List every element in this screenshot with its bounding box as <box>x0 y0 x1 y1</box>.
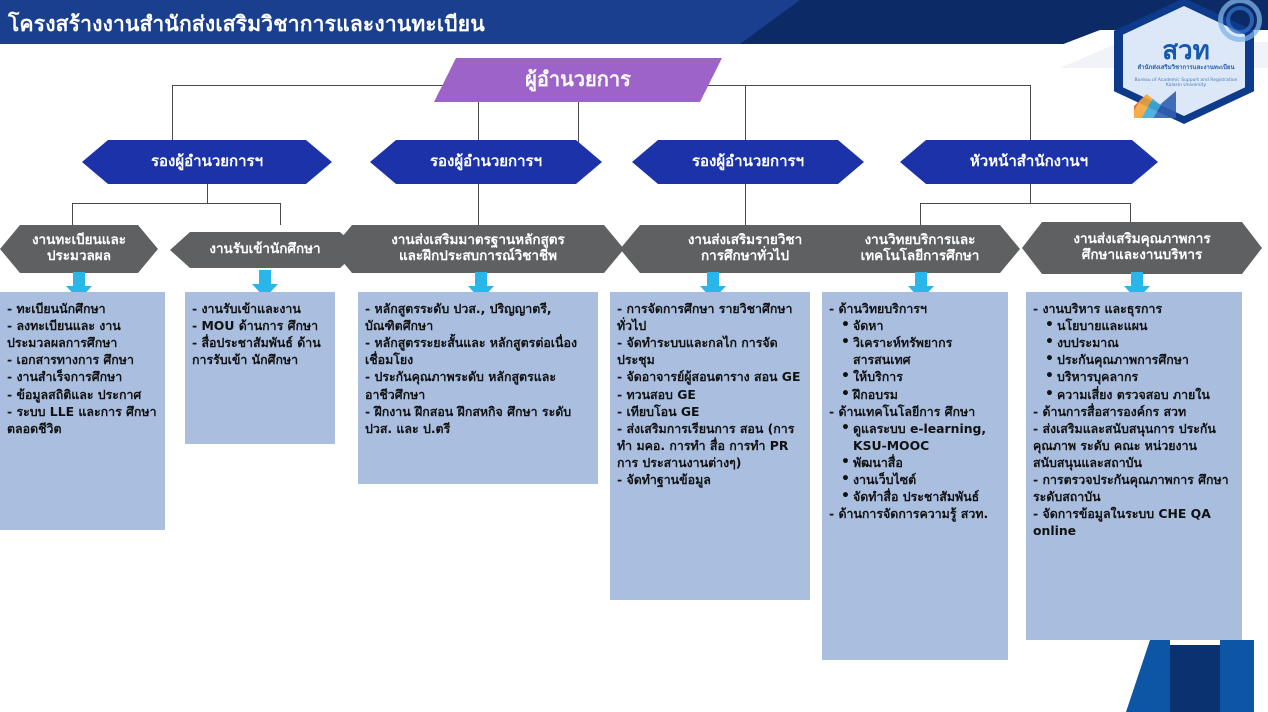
detail-box-registration: - ทะเบียนนักศึกษา - ลงทะเบียนและ งาน ประ… <box>0 292 165 530</box>
logo-subtitle-en: Bureau of Academic Support and Registrat… <box>1130 78 1242 89</box>
detail-line: - เทียบโอน GE <box>617 403 803 420</box>
node-unit-general-education-label-1: งานส่งเสริมรายวิชา <box>688 232 802 248</box>
detail-bullet: วิเคราะห์ทรัพยากร สารสนเทศ <box>839 334 1001 368</box>
detail-line: - ระบบ LLE และการ ศึกษาตลอดชีวิต <box>7 403 158 437</box>
node-unit-admissions-label: งานรับเข้านักศึกษา <box>201 242 328 258</box>
detail-heading: - ด้านการจัดการความรู้ สวท. <box>829 505 1001 522</box>
detail-bullet: นโยบายและแผน <box>1043 317 1235 334</box>
detail-box-academic-services: - ด้านวิทยบริการฯ จัดหา วิเคราะห์ทรัพยาก… <box>822 292 1008 660</box>
decoration-bar-2 <box>1170 645 1220 712</box>
node-unit-academic-services-label-2: เทคโนโลยีการศึกษา <box>861 248 980 264</box>
connector-level2-drop-4 <box>1030 85 1031 143</box>
node-unit-registration[interactable]: งานทะเบียนและประมวลผล <box>0 225 158 273</box>
connector-root-stem <box>578 101 579 143</box>
detail-line: - สื่อประชาสัมพันธ์ ด้านการรับเข้า นักศึ… <box>192 334 328 368</box>
node-deputy-director-2[interactable]: รองผู้อำนวยการฯ <box>370 140 602 184</box>
detail-line: - ประกันคุณภาพระดับ หลักสูตรและอาชีวศึกษ… <box>365 368 591 402</box>
detail-bullet: ความเสี่ยง ตรวจสอบ ภายใน <box>1043 386 1235 403</box>
detail-line: - งานรับเข้าและงาน <box>192 300 328 317</box>
detail-line: - หลักสูตรระดับ ปวส., ปริญญาตรี, บัณฑิตศ… <box>365 300 591 334</box>
detail-heading: - ด้านเทคโนโลยีการ ศึกษา <box>829 403 1001 420</box>
node-deputy-director-3-label: รองผู้อำนวยการฯ <box>684 153 812 171</box>
connector-head-drop-b <box>1130 203 1131 225</box>
detail-heading: - งานบริหาร และธุรการ <box>1033 300 1235 317</box>
detail-bullets: นโยบายและแผน งบประมาณ ประกันคุณภาพการศึก… <box>1043 317 1235 403</box>
detail-line: - ข้อมูลสถิติและ ประกาศ <box>7 386 158 403</box>
connector-dep1-stem <box>207 183 208 203</box>
detail-line: - ทวนสอบ GE <box>617 386 803 403</box>
decoration-bar-1 <box>1126 640 1170 712</box>
connector-dep3-stem <box>745 183 746 225</box>
connector-dep2-stem <box>478 183 479 225</box>
detail-bullet: บริหารบุคลากร <box>1043 368 1235 385</box>
logo-ring-inner-icon <box>1226 6 1254 34</box>
node-unit-general-education-label-2: การศึกษาทั่วไป <box>701 248 789 264</box>
logo-subtitle-th: สำนักส่งเสริมวิชาการและงานทะเบียน <box>1130 64 1242 72</box>
detail-heading: - ด้านวิทยบริการฯ <box>829 300 1001 317</box>
node-director[interactable]: ผู้อำนวยการ <box>434 58 722 102</box>
detail-heading: - จัดการข้อมูลในระบบ CHE QA online <box>1033 505 1235 539</box>
node-office-head-label: หัวหน้าสำนักงานฯ <box>962 153 1096 171</box>
detail-bullets: จัดหา วิเคราะห์ทรัพยากร สารสนเทศ ให้บริก… <box>839 317 1001 403</box>
org-chart-slide: โครงสร้างงานสำนักส่งเสริมวิชาการและงานทะ… <box>0 0 1268 712</box>
detail-heading: - การตรวจประกันคุณภาพการ ศึกษาระดับสถาบั… <box>1033 471 1235 505</box>
page-title: โครงสร้างงานสำนักส่งเสริมวิชาการและงานทะ… <box>8 8 485 41</box>
detail-line: - จัดอาจารย์ผู้สอนตาราง สอน GE <box>617 368 803 385</box>
detail-heading: - ส่งเสริมและสนับสนุนการ ประกันคุณภาพ ระ… <box>1033 420 1235 471</box>
connector-head-bus <box>920 203 1130 204</box>
detail-bullet: งานเว็บไซต์ <box>839 471 1001 488</box>
node-unit-registration-label-2: ประมวลผล <box>47 248 111 264</box>
detail-bullet: พัฒนาสื่อ <box>839 454 1001 471</box>
node-unit-registration-label-1: งานทะเบียนและ <box>32 232 126 248</box>
decoration-bar-4 <box>1254 640 1268 712</box>
detail-box-curriculum: - หลักสูตรระดับ ปวส., ปริญญาตรี, บัณฑิตศ… <box>358 292 598 484</box>
connector-head-drop-a <box>920 203 921 225</box>
connector-dep1-bus <box>72 203 280 204</box>
detail-line: - ส่งเสริมการเรียนการ สอน (การทำ มคอ. กา… <box>617 420 803 471</box>
connector-dep1-drop-b <box>280 203 281 225</box>
detail-bullet: ดูแลระบบ e-learning, KSU-MOOC <box>839 420 1001 454</box>
node-unit-academic-services[interactable]: งานวิทยบริการและเทคโนโลยีการศึกษา <box>820 225 1020 273</box>
node-unit-academic-services-label-1: งานวิทยบริการและ <box>865 232 976 248</box>
detail-line: - เอกสารทางการ ศึกษา <box>7 351 158 368</box>
detail-box-quality-admin: - งานบริหาร และธุรการ นโยบายและแผน งบประ… <box>1026 292 1242 640</box>
detail-line: - จัดทำระบบและกลไก การจัดประชุม <box>617 334 803 368</box>
node-office-head[interactable]: หัวหน้าสำนักงานฯ <box>900 140 1158 184</box>
node-unit-quality-admin-label-1: งานส่งเสริมคุณภาพการ <box>1073 231 1210 247</box>
node-deputy-director-1-label: รองผู้อำนวยการฯ <box>143 153 271 171</box>
detail-bullet: จัดทำสื่อ ประชาสัมพันธ์ <box>839 488 1001 505</box>
detail-heading: - ด้านการสื่อสารองค์กร สวท <box>1033 403 1235 420</box>
detail-line: - หลักสูตรระยะสั้นและ หลักสูตรต่อเนื่องเ… <box>365 334 591 368</box>
node-unit-quality-admin[interactable]: งานส่งเสริมคุณภาพการศึกษาและงานบริหาร <box>1022 222 1262 274</box>
connector-dep1-drop-a <box>72 203 73 225</box>
detail-line: - การจัดการศึกษา รายวิชาศึกษาทั่วไป <box>617 300 803 334</box>
node-director-label: ผู้อำนวยการ <box>517 68 639 92</box>
node-deputy-director-3[interactable]: รองผู้อำนวยการฯ <box>632 140 864 184</box>
detail-line: - MOU ด้านการ ศึกษา <box>192 317 328 334</box>
detail-bullets: ดูแลระบบ e-learning, KSU-MOOC พัฒนาสื่อ … <box>839 420 1001 506</box>
node-deputy-director-1[interactable]: รองผู้อำนวยการฯ <box>82 140 332 184</box>
detail-bullet: ให้บริการ <box>839 368 1001 385</box>
detail-bullet: จัดหา <box>839 317 1001 334</box>
detail-bullet: ประกันคุณภาพการศึกษา <box>1043 351 1235 368</box>
detail-line: - จัดทำฐานข้อมูล <box>617 471 803 488</box>
detail-line: - ลงทะเบียนและ งาน ประมวลผลการศึกษา <box>7 317 158 351</box>
organization-logo: สวท สำนักส่งเสริมวิชาการและงานทะเบียน Bu… <box>1104 0 1268 126</box>
decoration-bar-3 <box>1220 640 1254 712</box>
detail-bullet: งบประมาณ <box>1043 334 1235 351</box>
node-unit-curriculum[interactable]: งานส่งเสริมมาตรฐานหลักสูตรและฝึกประสบการ… <box>332 225 624 273</box>
detail-bullet: ฝึกอบรม <box>839 386 1001 403</box>
node-deputy-director-2-label: รองผู้อำนวยการฯ <box>422 153 550 171</box>
detail-box-general-education: - การจัดการศึกษา รายวิชาศึกษาทั่วไป - จั… <box>610 292 810 600</box>
node-unit-admissions[interactable]: งานรับเข้านักศึกษา <box>170 232 360 268</box>
detail-line: - ทะเบียนนักศึกษา <box>7 300 158 317</box>
node-unit-quality-admin-label-2: ศึกษาและงานบริหาร <box>1082 247 1202 263</box>
connector-head-stem <box>1030 183 1031 203</box>
connector-level2-drop-3 <box>745 85 746 143</box>
detail-line: - งานสำเร็จการศึกษา <box>7 368 158 385</box>
node-unit-curriculum-label-1: งานส่งเสริมมาตรฐานหลักสูตร <box>391 232 565 248</box>
connector-level2-drop-1 <box>172 85 173 143</box>
detail-box-admissions: - งานรับเข้าและงาน - MOU ด้านการ ศึกษา -… <box>185 292 335 444</box>
node-unit-curriculum-label-2: และฝึกประสบการณ์วิชาชีพ <box>399 248 557 264</box>
detail-line: - ฝึกงาน ฝึกสอน ฝึกสหกิจ ศึกษา ระดับ ปวส… <box>365 403 591 437</box>
logo-name: สวท <box>1134 38 1238 64</box>
